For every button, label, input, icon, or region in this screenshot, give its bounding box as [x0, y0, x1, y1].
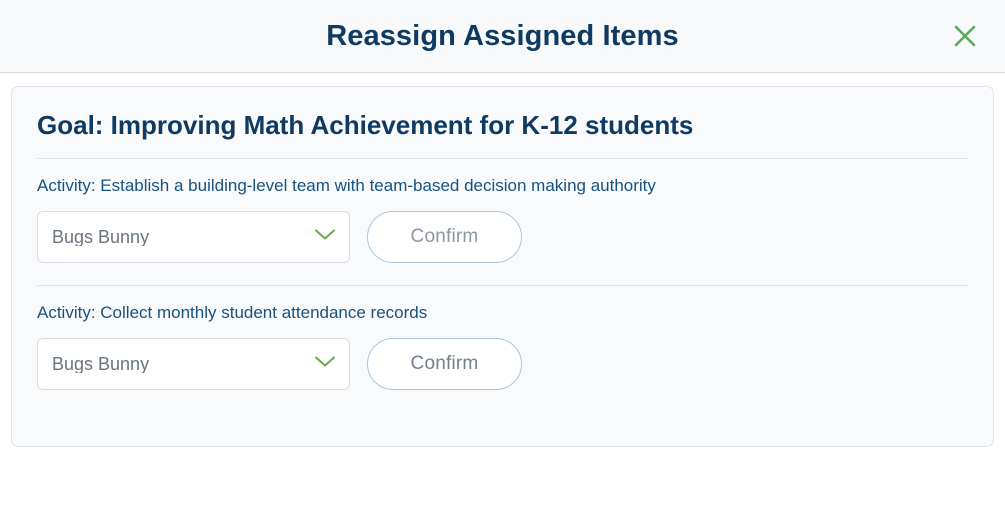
activity-controls-row: Bugs Bunny Confirm — [37, 211, 968, 285]
assignee-select-value: Bugs Bunny — [52, 228, 149, 246]
assignee-select-box[interactable]: Bugs Bunny — [37, 211, 350, 263]
goal-title: Goal: Improving Math Achievement for K-1… — [37, 109, 968, 158]
assignee-select-value: Bugs Bunny — [52, 355, 149, 373]
activity-block: Activity: Collect monthly student attend… — [37, 286, 968, 412]
activity-label: Activity: Collect monthly student attend… — [37, 302, 968, 338]
confirm-button[interactable]: Confirm — [367, 338, 522, 390]
assignee-select[interactable]: Bugs Bunny — [37, 338, 350, 390]
assignee-select[interactable]: Bugs Bunny — [37, 211, 350, 263]
activity-block: Activity: Establish a building-level tea… — [37, 159, 968, 285]
reassign-assigned-items-modal: Reassign Assigned Items Goal: Improving … — [0, 0, 1005, 523]
modal-body: Goal: Improving Math Achievement for K-1… — [0, 73, 1005, 523]
assignee-select-box[interactable]: Bugs Bunny — [37, 338, 350, 390]
close-button[interactable] — [943, 14, 987, 58]
modal-header: Reassign Assigned Items — [0, 0, 1005, 73]
goal-card: Goal: Improving Math Achievement for K-1… — [11, 86, 994, 447]
activity-controls-row: Bugs Bunny Confirm — [37, 338, 968, 412]
confirm-button[interactable]: Confirm — [367, 211, 522, 263]
page-title: Reassign Assigned Items — [326, 22, 679, 51]
close-icon — [950, 21, 980, 51]
activity-label: Activity: Establish a building-level tea… — [37, 175, 968, 211]
